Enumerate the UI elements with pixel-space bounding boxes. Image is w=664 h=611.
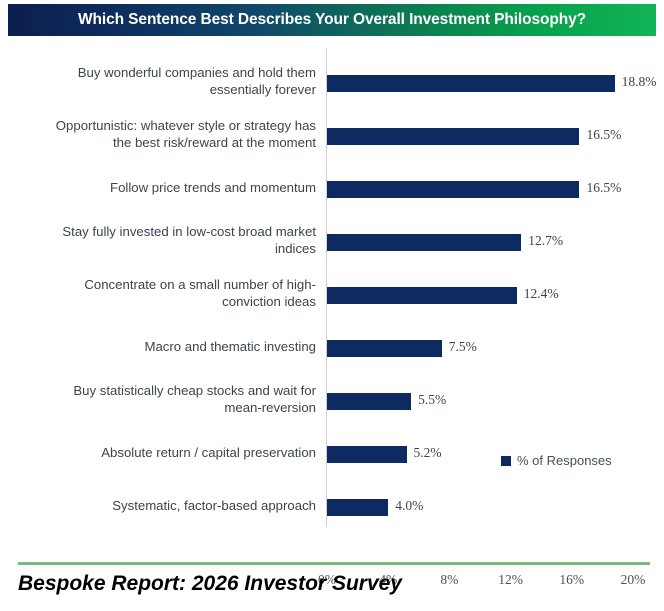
x-axis-tick-label: 12%	[486, 572, 536, 588]
bar-row: Stay fully invested in low-cost broad ma…	[0, 217, 664, 270]
bar-value-label: 12.7%	[528, 233, 563, 249]
bar	[327, 499, 388, 516]
bar-value-label: 16.5%	[586, 180, 621, 196]
bar-row: Macro and thematic investing7.5%	[0, 323, 664, 376]
bar-value-label: 7.5%	[449, 339, 477, 355]
chart-figure: Which Sentence Best Describes Your Overa…	[0, 0, 664, 611]
bar	[327, 181, 579, 198]
category-label-line: Opportunistic: whatever style or strateg…	[16, 117, 316, 134]
footer-source-text: Bespoke Report: 2026 Investor Survey	[18, 572, 402, 596]
category-label: Buy wonderful companies and hold themess…	[16, 64, 316, 98]
chart-title-banner: Which Sentence Best Describes Your Overa…	[8, 4, 656, 36]
category-label-line: Buy wonderful companies and hold them	[16, 64, 316, 81]
category-label: Systematic, factor-based approach	[16, 497, 316, 514]
bar-row: Follow price trends and momentum16.5%	[0, 164, 664, 217]
plot-area: Buy wonderful companies and hold themess…	[0, 40, 664, 545]
bar-row: Concentrate on a small number of high-co…	[0, 270, 664, 323]
bar-value-label: 5.2%	[414, 445, 442, 461]
bar	[327, 287, 517, 304]
category-label: Buy statistically cheap stocks and wait …	[16, 382, 316, 416]
footer-divider	[18, 562, 650, 565]
chart-title: Which Sentence Best Describes Your Overa…	[78, 11, 586, 29]
bar-row: Buy statistically cheap stocks and wait …	[0, 376, 664, 429]
bar-value-label: 5.5%	[418, 392, 446, 408]
category-label: Concentrate on a small number of high-co…	[16, 276, 316, 310]
bar	[327, 234, 521, 251]
bar-value-label: 18.8%	[622, 74, 657, 90]
bar	[327, 340, 442, 357]
bar	[327, 446, 407, 463]
category-label-line: the best risk/reward at the moment	[16, 134, 316, 151]
category-label: Stay fully invested in low-cost broad ma…	[16, 223, 316, 257]
bar-row: Opportunistic: whatever style or strateg…	[0, 111, 664, 164]
legend-label: % of Responses	[517, 453, 612, 468]
bar	[327, 75, 615, 92]
category-label: Follow price trends and momentum	[16, 179, 316, 196]
category-label-line: mean-reversion	[16, 399, 316, 416]
x-axis-tick-label: 16%	[547, 572, 597, 588]
category-label-line: essentially forever	[16, 81, 316, 98]
bar-value-label: 16.5%	[586, 127, 621, 143]
bar-row: Systematic, factor-based approach4.0%	[0, 482, 664, 535]
bar-row: Buy wonderful companies and hold themess…	[0, 58, 664, 111]
category-label: Opportunistic: whatever style or strateg…	[16, 117, 316, 151]
category-label-line: conviction ideas	[16, 293, 316, 310]
bar	[327, 393, 411, 410]
category-label-line: Stay fully invested in low-cost broad ma…	[16, 223, 316, 240]
legend: % of Responses	[501, 453, 612, 468]
category-label-line: indices	[16, 240, 316, 257]
bar-value-label: 4.0%	[395, 498, 423, 514]
category-label-line: Concentrate on a small number of high-	[16, 276, 316, 293]
category-label: Absolute return / capital preservation	[16, 444, 316, 461]
bar	[327, 128, 579, 145]
x-axis-tick-label: 8%	[424, 572, 474, 588]
legend-swatch-icon	[501, 456, 511, 466]
category-label: Macro and thematic investing	[16, 338, 316, 355]
bar-value-label: 12.4%	[524, 286, 559, 302]
x-axis-tick-label: 20%	[608, 572, 658, 588]
category-label-line: Buy statistically cheap stocks and wait …	[16, 382, 316, 399]
